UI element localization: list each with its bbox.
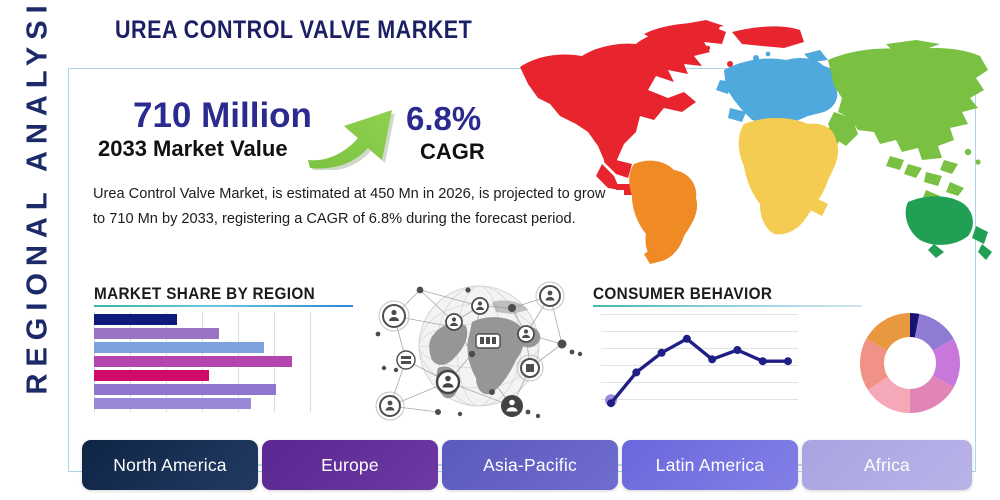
cagr-figure: 6.8%	[406, 100, 481, 138]
growth-arrow-icon	[305, 85, 410, 170]
consumer-behavior-line-chart	[601, 310, 798, 414]
section-header-consumer-behavior: CONSUMER BEHAVIOR	[593, 284, 772, 304]
table-row	[94, 370, 209, 381]
market-value-figure: 710 Million	[133, 96, 312, 136]
section-header-market-share: MARKET SHARE BY REGION	[94, 284, 315, 304]
global-network-globe-icon	[372, 272, 587, 424]
market-value-caption: 2033 Market Value	[98, 136, 288, 162]
page-title: UREA CONTROL VALVE MARKET	[115, 16, 472, 45]
region-button-row: North America Europe Asia-Pacific Latin …	[82, 440, 972, 490]
cagr-caption: CAGR	[420, 139, 485, 165]
infographic-root: REGIONAL ANALYSIS UREA CONTROL VALVE MAR…	[0, 0, 1000, 500]
region-button-north-america[interactable]: North America	[82, 440, 258, 490]
table-row	[94, 314, 177, 325]
region-button-latin-america[interactable]: Latin America	[622, 440, 798, 490]
world-map-icon	[498, 12, 998, 270]
table-row	[94, 384, 276, 395]
region-button-africa[interactable]: Africa	[802, 440, 972, 490]
table-row	[94, 342, 264, 353]
section-rule-consumer-behavior	[593, 305, 862, 307]
table-row	[94, 328, 219, 339]
region-button-europe[interactable]: Europe	[262, 440, 438, 490]
section-rule-market-share	[94, 305, 353, 307]
regional-split-donut-chart	[857, 310, 963, 416]
region-button-asia-pacific[interactable]: Asia-Pacific	[442, 440, 618, 490]
table-row	[94, 398, 251, 409]
table-row	[94, 356, 292, 367]
side-vertical-label: REGIONAL ANALYSIS	[22, 0, 55, 395]
market-share-bar-chart	[94, 312, 312, 412]
